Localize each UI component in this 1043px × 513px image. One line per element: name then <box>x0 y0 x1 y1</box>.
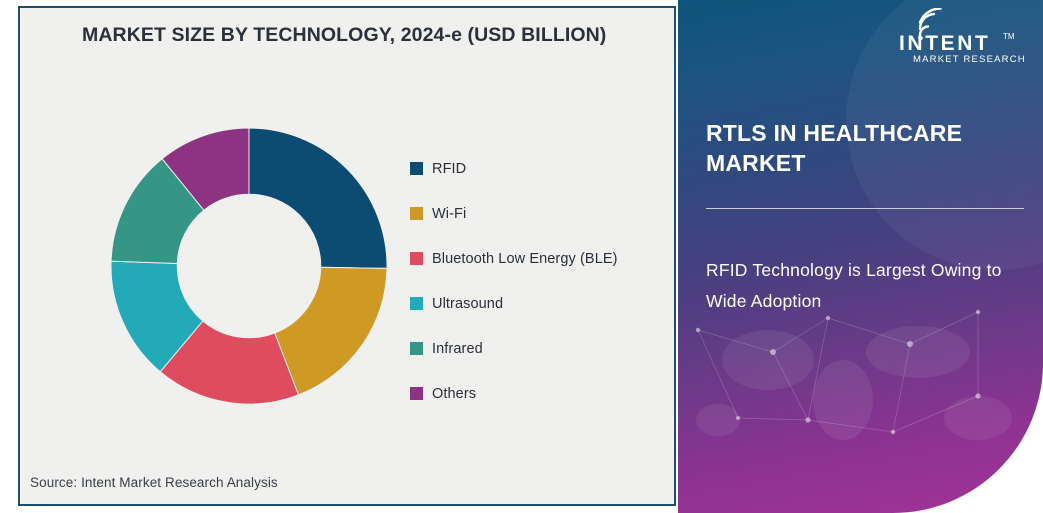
legend-item-label: Others <box>432 386 476 402</box>
panel-divider <box>706 208 1024 209</box>
legend-item-label: RFID <box>432 161 466 177</box>
chart-card: MARKET SIZE BY TECHNOLOGY, 2024-e (USD B… <box>18 6 676 506</box>
legend-item-label: Infrared <box>432 341 483 357</box>
legend-item[interactable]: Ultrasound <box>410 281 670 326</box>
panel-subheading: RFID Technology is Largest Owing to Wide… <box>706 255 1006 316</box>
donut-chart-svg <box>108 125 390 407</box>
legend-swatch-icon <box>410 162 423 175</box>
page-title: MARKET SIZE BY TECHNOLOGY, 2024-e (USD B… <box>82 24 606 47</box>
legend-swatch-icon <box>410 207 423 220</box>
title-panel: INTENT TM MARKET RESEARCH RTLS IN HEALTH… <box>678 0 1043 513</box>
legend-swatch-icon <box>410 252 423 265</box>
intent-market-research-logo[interactable]: INTENT TM MARKET RESEARCH <box>890 8 1025 64</box>
legend-item[interactable]: Infrared <box>410 326 670 371</box>
donut-chart <box>108 125 390 407</box>
legend-item[interactable]: Bluetooth Low Energy (BLE) <box>410 236 670 281</box>
source-note: Source: Intent Market Research Analysis <box>30 475 278 490</box>
legend-item[interactable]: Others <box>410 371 670 416</box>
legend-swatch-icon <box>410 297 423 310</box>
donut-slice-group <box>111 128 387 404</box>
legend-item[interactable]: RFID <box>410 146 670 191</box>
legend-item-label: Ultrasound <box>432 296 503 312</box>
donut-slice[interactable] <box>249 128 387 268</box>
chart-legend: RFIDWi-FiBluetooth Low Energy (BLE)Ultra… <box>410 146 670 416</box>
logo-tagline: MARKET RESEARCH <box>913 54 1025 64</box>
infographic-root: MARKET SIZE BY TECHNOLOGY, 2024-e (USD B… <box>0 0 1043 513</box>
legend-item-label: Bluetooth Low Energy (BLE) <box>432 251 618 267</box>
legend-item-label: Wi-Fi <box>432 206 466 222</box>
legend-swatch-icon <box>410 342 423 355</box>
logo-trademark: TM <box>1003 32 1015 41</box>
logo-wordmark: INTENT <box>899 32 990 55</box>
legend-item[interactable]: Wi-Fi <box>410 191 670 236</box>
legend-swatch-icon <box>410 387 423 400</box>
panel-heading: RTLS IN HEALTHCARE MARKET <box>706 118 1016 179</box>
